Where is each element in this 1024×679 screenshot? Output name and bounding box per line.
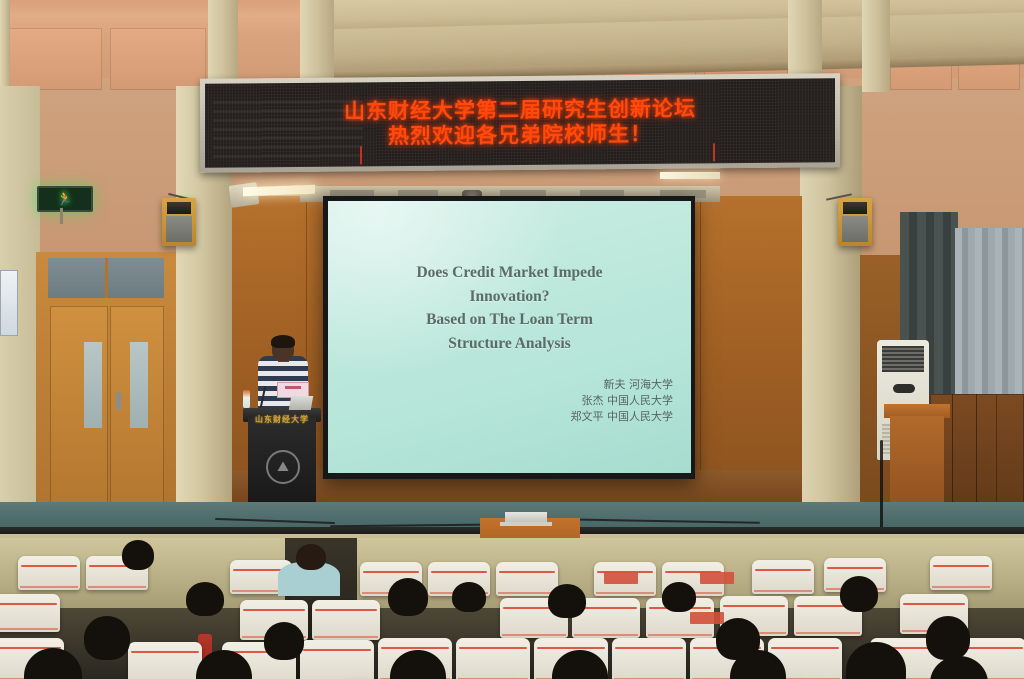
emblem-glyph: ⛰ [277, 459, 289, 475]
led-banner-tick [713, 143, 715, 161]
wall-panel [6, 28, 102, 90]
seat [18, 556, 80, 590]
lectern-inscription: 山东财经大学 [250, 414, 314, 425]
seat [612, 638, 686, 679]
wall-notice-board [0, 270, 18, 336]
emergency-exit-sign: 🏃 [37, 186, 93, 212]
slide-author-1: 新夫 河海大学 [571, 377, 674, 393]
led-banner-line-2: 热烈欢迎各兄弟院校师生！ [388, 123, 652, 148]
seat-label [690, 612, 724, 624]
led-banner-tick [360, 146, 362, 164]
seat [128, 642, 202, 679]
door-handle[interactable] [116, 392, 121, 410]
door-vision-panel [84, 342, 102, 428]
slide-title-line-4: Structure Analysis [328, 332, 691, 356]
seat [496, 562, 558, 596]
laptop-base [500, 522, 552, 526]
slide-author-2: 张杰 中国人民大学 [571, 393, 674, 409]
wall-pilaster [862, 0, 890, 92]
speaker-cone [167, 202, 191, 214]
seat [930, 556, 992, 590]
exit-sign-bracket [60, 208, 63, 224]
wall-speaker-right [838, 198, 872, 246]
ac-vent-grille [882, 346, 924, 372]
seat [300, 640, 374, 679]
audience-head [840, 576, 878, 612]
auditorium-photo: 山东财经大学第二届研究生创新论坛 热烈欢迎各兄弟院校师生！ Does Credi… [0, 0, 1024, 679]
slide-author-3: 郑文平 中国人民大学 [571, 409, 674, 425]
side-desk-body [890, 416, 944, 512]
audience-head [186, 582, 224, 616]
audience-head [264, 622, 304, 660]
audience-head [452, 582, 486, 612]
audience-head [122, 540, 154, 570]
seat [456, 638, 530, 679]
seat [312, 600, 380, 640]
audience-head [84, 616, 130, 660]
audience-head [548, 584, 586, 618]
led-banner: 山东财经大学第二届研究生创新论坛 热烈欢迎各兄弟院校师生！ [200, 73, 840, 173]
speaker-cone [843, 202, 867, 214]
led-banner-screen: 山东财经大学第二届研究生创新论坛 热烈欢迎各兄弟院校师生！ [205, 78, 835, 167]
ac-brand-badge [893, 384, 915, 393]
audience-head [926, 616, 970, 660]
seat [0, 594, 60, 632]
water-bottle [243, 390, 250, 408]
slide-title-line-3: Based on The Loan Term [328, 308, 691, 332]
audience-head [662, 582, 696, 612]
wall-panel [110, 28, 206, 90]
projection-screen-surface: Does Credit Market Impede Innovation? Ba… [328, 201, 691, 473]
wall-pilaster [0, 0, 10, 92]
running-man-icon: 🏃 [57, 193, 73, 206]
presenter-hair [271, 335, 295, 348]
audience-head [296, 544, 326, 570]
wall-cable [880, 440, 883, 536]
audience-area [0, 538, 1024, 679]
speaker-grille [842, 216, 868, 242]
seat-label [700, 572, 734, 584]
speaker-grille [166, 216, 192, 242]
seat [752, 560, 814, 594]
led-banner-artifact [213, 94, 363, 157]
seat-label [604, 572, 638, 584]
slide-title-line-2: Innovation? [328, 285, 691, 309]
fluorescent-light [660, 172, 720, 179]
slide-title-line-1: Does Credit Market Impede [328, 261, 691, 285]
slide-authors: 新夫 河海大学 张杰 中国人民大学 郑文平 中国人民大学 [571, 377, 674, 425]
slide-content: Does Credit Market Impede Innovation? Ba… [328, 261, 691, 355]
projection-screen: Does Credit Market Impede Innovation? Ba… [323, 196, 695, 479]
door-vision-panel [130, 342, 148, 428]
presentation-laptop [289, 396, 313, 410]
university-emblem: ⛰ [266, 450, 300, 484]
audience-head [388, 578, 428, 616]
wall-speaker-left [162, 198, 196, 246]
led-banner-line-1: 山东财经大学第二届研究生创新论坛 [344, 98, 696, 124]
